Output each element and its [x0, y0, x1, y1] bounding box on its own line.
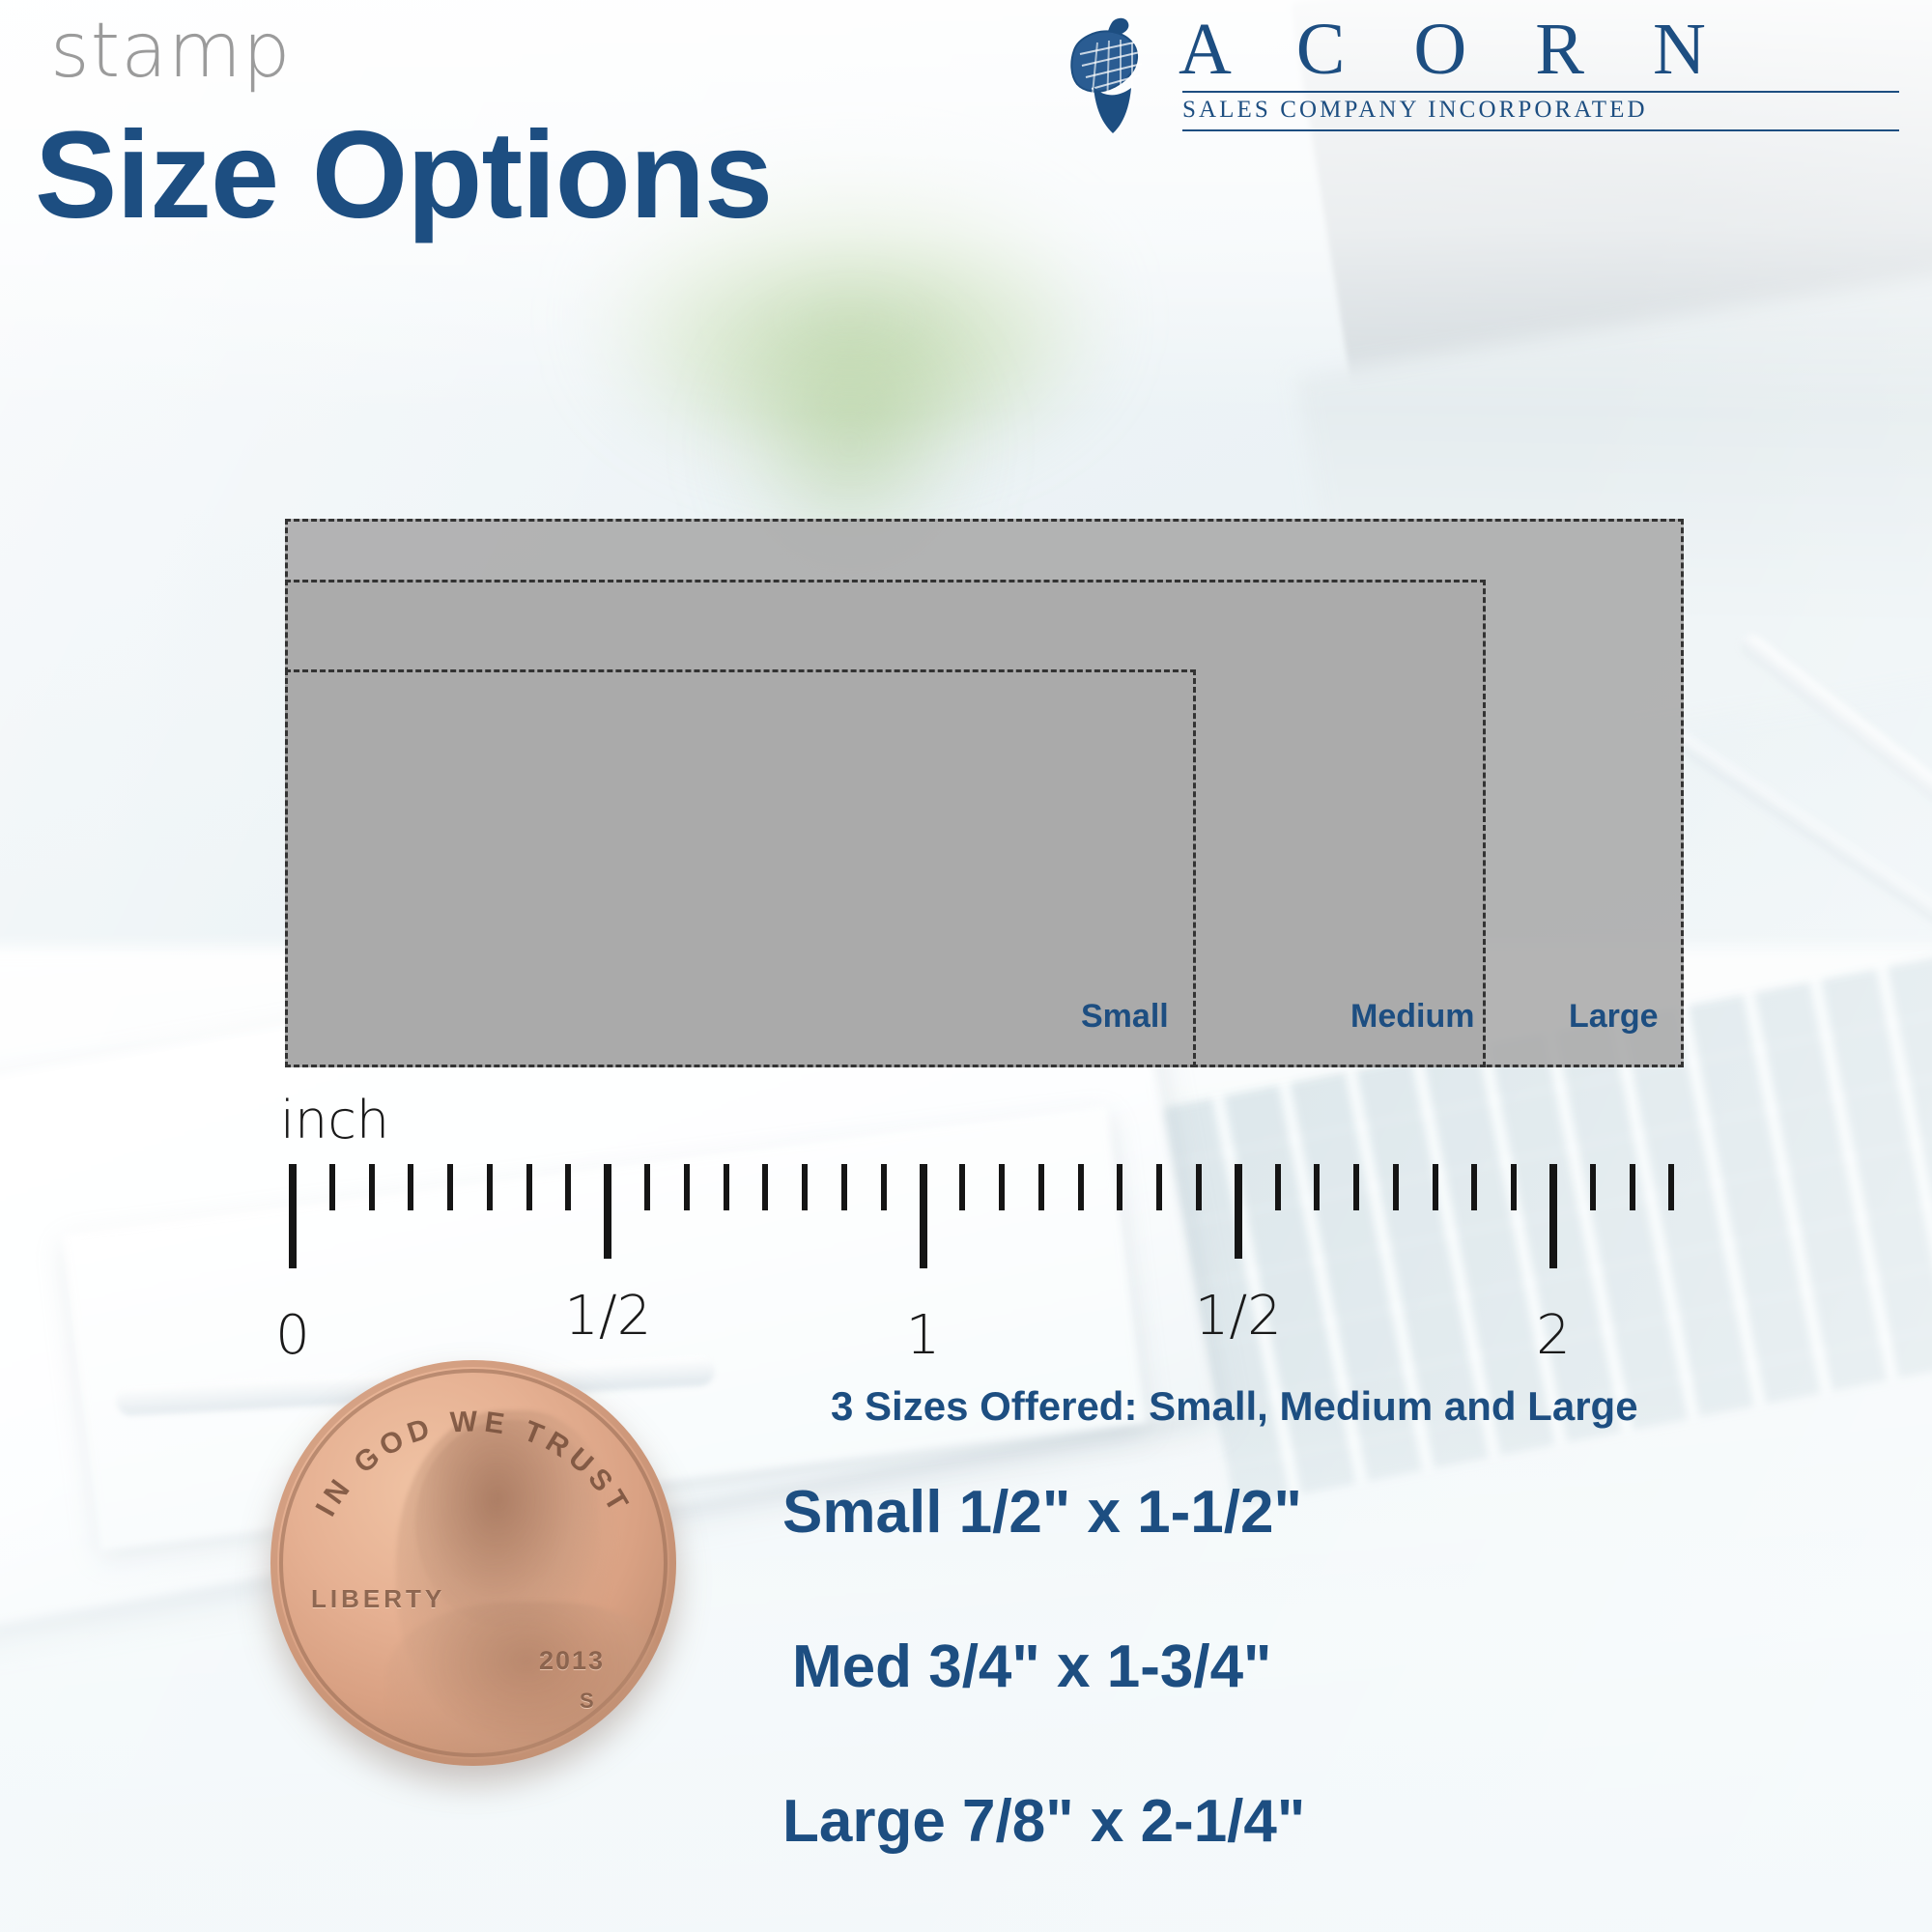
ruler-tick [684, 1164, 690, 1210]
ruler-tick [959, 1164, 965, 1210]
ruler-tick [369, 1164, 375, 1210]
ruler-tick [1433, 1164, 1438, 1210]
ruler-tick [1511, 1164, 1517, 1210]
svg-text:IN GOD WE TRUST: IN GOD WE TRUST [310, 1406, 637, 1521]
ruler-tick [920, 1164, 927, 1268]
ruler-tick [329, 1164, 335, 1210]
ruler-tick [1117, 1164, 1122, 1210]
ruler-tick [1471, 1164, 1477, 1210]
ruler-tick [1393, 1164, 1399, 1210]
ruler-tick [644, 1164, 650, 1210]
penny-mint-mark: S [580, 1689, 594, 1714]
ruler-tick [604, 1164, 611, 1259]
ruler-label-1-2: 1/2 [564, 1285, 651, 1348]
ruler-tick [762, 1164, 768, 1210]
size-line-medium: Med 3/4" x 1-3/4" [792, 1633, 1271, 1701]
sizes-intro-text: 3 Sizes Offered: Small, Medium and Large [831, 1383, 1638, 1430]
ruler-label-0: 0 [275, 1304, 310, 1367]
ruler-tick [1038, 1164, 1044, 1210]
penny-year-text: 2013 [539, 1646, 605, 1676]
ruler-tick [724, 1164, 729, 1210]
ruler-tick [526, 1164, 532, 1210]
ruler-tick [565, 1164, 571, 1210]
ruler-tick [1235, 1164, 1242, 1259]
ruler-tick [447, 1164, 453, 1210]
penny-liberty-text: LIBERTY [311, 1584, 445, 1614]
penny-reference-coin: IN GOD WE TRUST LIBERTY 2013 S [270, 1360, 676, 1766]
ruler-tick [1630, 1164, 1635, 1210]
ruler-tick [841, 1164, 847, 1210]
ruler-tick [802, 1164, 808, 1210]
ruler-tick [1314, 1164, 1320, 1210]
ruler-unit-label: inch [280, 1090, 389, 1151]
ruler-tick [1275, 1164, 1281, 1210]
ruler-tick [999, 1164, 1005, 1210]
size-options-infographic: stamp Size Options A C O R N SALES COMPA… [0, 0, 1932, 1932]
ruler-tick [1196, 1164, 1202, 1210]
ruler-tick [408, 1164, 413, 1210]
size-line-small: Small 1/2" x 1-1/2" [782, 1478, 1302, 1547]
ruler-tick [1549, 1164, 1557, 1268]
ruler-tick [1353, 1164, 1359, 1210]
size-line-large: Large 7/8" x 2-1/4" [782, 1787, 1305, 1856]
ruler-tick [1668, 1164, 1674, 1210]
ruler-label-2: 2 [1536, 1304, 1571, 1367]
ruler-tick [1590, 1164, 1596, 1210]
ruler-label-1-2: 1/2 [1195, 1285, 1282, 1348]
ruler-tick [487, 1164, 493, 1210]
ruler-tick [1156, 1164, 1162, 1210]
ruler-tick [881, 1164, 887, 1210]
ruler-tick [1078, 1164, 1084, 1210]
ruler-tick [289, 1164, 297, 1268]
ruler-label-1: 1 [906, 1304, 941, 1367]
penny-motto-arc: IN GOD WE TRUST [270, 1360, 676, 1766]
